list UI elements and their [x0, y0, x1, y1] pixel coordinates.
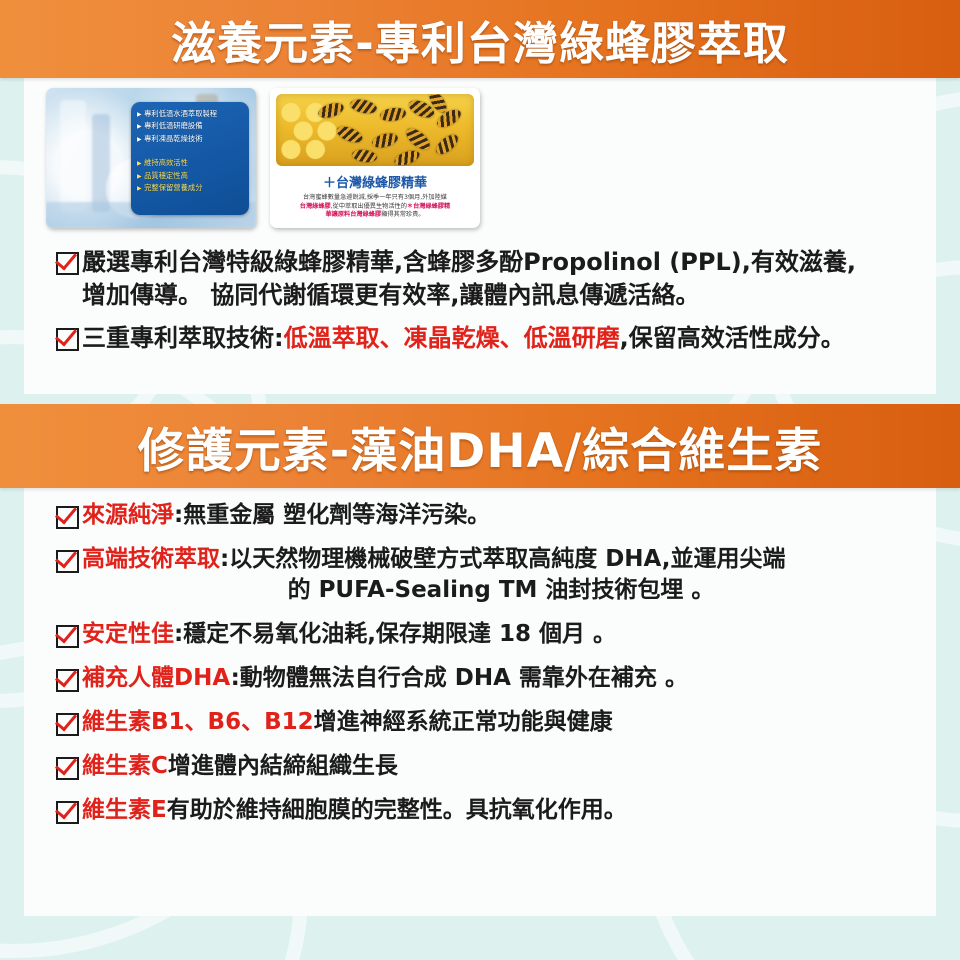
bullet-emphasis: 維生素E [82, 797, 167, 823]
bullet-line: 維生素B1、B6、B12增進神經系統正常功能與健康 [82, 709, 613, 735]
bullet-line: 來源純淨:無重金屬 塑化劑等海洋污染。 [82, 502, 490, 528]
bullet-segment: 增加傳導。 協同代謝循環更有效率,讓體內訊息傳遞活絡。 [82, 281, 699, 309]
section-one-title: 滋養元素-專利台灣綠蜂膠萃取 [171, 7, 789, 72]
bullet-line: 三重專利萃取技術:低溫萃取、凍晶乾燥、低溫研磨,保留高效活性成分。 [82, 324, 845, 352]
bullet-triple-patent: 三重專利萃取技術:低溫萃取、凍晶乾燥、低溫研磨,保留高效活性成分。 [56, 322, 920, 355]
bee-icon [403, 125, 433, 154]
bullet-line: 增加傳導。 協同代謝循環更有效率,讓體內訊息傳遞活絡。 [82, 279, 920, 312]
bullet-stability: 安定性佳:穩定不易氧化油耗,保存期限達 18 個月 。 [56, 619, 920, 650]
bullet-vitamin-b: 維生素B1、B6、B12增進神經系統正常功能與健康 [56, 707, 920, 738]
bullet-line: 補充人體DHA:動物體無法自行合成 DHA 需靠外在補充 。 [82, 665, 688, 691]
bullet-line: 嚴選專利台灣特級綠蜂膠精華,含蜂膠多酚Propolinol (PPL),有效滋養… [82, 248, 856, 276]
bullet-segment: ,保留高效活性成分。 [620, 324, 845, 352]
lab-photo-card: 專利低溫水酒萃取製程 專利低溫研磨設備 專利凍晶乾燥技術 維持高效活性 品質穩定… [46, 88, 256, 228]
patent-point: 專利低溫研磨設備 [137, 120, 244, 132]
checkmark-icon [56, 550, 79, 573]
bullet-text: 三重專利萃取技術:低溫萃取、凍晶乾燥、低溫研磨,保留高效活性成分。 [82, 322, 920, 355]
bee-icon [371, 131, 399, 150]
test-tube-icon [60, 100, 86, 212]
bullet-line: 維生素C增進體內結締組織生長 [82, 753, 398, 779]
patent-points-list: 專利低溫水酒萃取製程 專利低溫研磨設備 專利凍晶乾燥技術 [137, 108, 244, 145]
bullet-emphasis: 維生素C [82, 753, 168, 779]
bullet-pure-source: 來源純淨:無重金屬 塑化劑等海洋污染。 [56, 500, 920, 531]
benefit-point: 品質穩定性高 [137, 170, 244, 182]
section-two-banner: 修護元素-藻油DHA/綜合維生素 [0, 404, 960, 488]
checkmark-icon [56, 625, 79, 648]
bullet-emphasis: 安定性佳 [82, 621, 174, 647]
propolis-desc-line-3: 華讓原料台灣綠蜂膠顯得其常珍貴。 [280, 211, 470, 220]
bullet-segment: :無重金屬 塑化劑等海洋污染。 [174, 502, 490, 528]
bullet-segment: 增進神經系統正常功能與健康 [314, 709, 613, 735]
bullet-line: 高端技術萃取:以天然物理機械破壁方式萃取高純度 DHA,並運用尖端 [82, 546, 786, 572]
checkmark-icon [56, 713, 79, 736]
propolis-desc-text: 顯得其常珍貴。 [381, 211, 424, 218]
bullet-emphasis: 高端技術萃取 [82, 546, 220, 572]
bullet-segment: :以天然物理機械破壁方式萃取高純度 DHA,並運用尖端 [220, 546, 786, 572]
propolis-desc-line-1: 台灣蜜蜂數量急遽銳減,採季一年只有3個月,外加陸媒 [280, 194, 470, 203]
product-image-row: 專利低溫水酒萃取製程 專利低溫研磨設備 專利凍晶乾燥技術 維持高效活性 品質穩定… [46, 88, 480, 228]
bullet-line: 安定性佳:穩定不易氧化油耗,保存期限達 18 個月 。 [82, 621, 616, 647]
page-root: 滋養元素-專利台灣綠蜂膠萃取 專利低溫水酒萃取製程 專利低溫研磨設備 專利凍晶乾… [0, 0, 960, 960]
bullet-emphasis: 補充人體DHA [82, 665, 231, 691]
patent-points-box: 專利低溫水酒萃取製程 專利低溫研磨設備 專利凍晶乾燥技術 維持高效活性 品質穩定… [131, 102, 249, 215]
bee-icon [349, 97, 378, 115]
bullet-text: 嚴選專利台灣特級綠蜂膠精華,含蜂膠多酚Propolinol (PPL),有效滋養… [82, 246, 920, 312]
propolis-desc-highlight: ＊台灣綠蜂膠精 [407, 203, 450, 210]
patent-point: 專利低溫水酒萃取製程 [137, 108, 244, 120]
bullet-text: 安定性佳:穩定不易氧化油耗,保存期限達 18 個月 。 [82, 619, 920, 650]
bullet-dha-supplement: 補充人體DHA:動物體無法自行合成 DHA 需靠外在補充 。 [56, 663, 920, 694]
checkmark-icon [56, 252, 79, 275]
section-one-bullet-list: 嚴選專利台灣特級綠蜂膠精華,含蜂膠多酚Propolinol (PPL),有效滋養… [56, 246, 920, 365]
bullet-text: 維生素B1、B6、B12增進神經系統正常功能與健康 [82, 707, 920, 738]
propolis-desc-highlight: 台灣綠蜂膠 [300, 203, 331, 210]
bullet-line: 維生素E有助於維持細胞膜的完整性。具抗氧化作用。 [82, 797, 627, 823]
propolis-card: ＋台灣綠蜂膠精華 台灣蜜蜂數量急遽銳減,採季一年只有3個月,外加陸媒 台灣綠蜂膠… [270, 88, 480, 228]
patent-point: 專利凍晶乾燥技術 [137, 133, 244, 145]
bullet-text: 來源純淨:無重金屬 塑化劑等海洋污染。 [82, 500, 920, 531]
bullet-segment: 增進體內結締組織生長 [168, 753, 398, 779]
bullet-vitamin-e: 維生素E有助於維持細胞膜的完整性。具抗氧化作用。 [56, 795, 920, 826]
bee-icon [351, 148, 377, 163]
benefit-points-list: 維持高效活性 品質穩定性高 完整保留營養成分 [137, 157, 244, 194]
bullet-line: 的 PUFA-Sealing TM 油封技術包埋 。 [82, 575, 920, 606]
checkmark-icon [56, 328, 79, 351]
checkmark-icon [56, 757, 79, 780]
bullet-segment: :動物體無法自行合成 DHA 需靠外在補充 。 [231, 665, 688, 691]
bullet-vitamin-c: 維生素C增進體內結締組織生長 [56, 751, 920, 782]
bee-icon [379, 106, 407, 122]
bullet-text: 維生素E有助於維持細胞膜的完整性。具抗氧化作用。 [82, 795, 920, 826]
bullet-emphasis: 來源純淨 [82, 502, 174, 528]
bullet-segment: :穩定不易氧化油耗,保存期限達 18 個月 。 [174, 621, 616, 647]
bullet-text: 補充人體DHA:動物體無法自行合成 DHA 需靠外在補充 。 [82, 663, 920, 694]
bullet-emphasis: 維生素B1、B6、B12 [82, 709, 314, 735]
checkmark-icon [56, 506, 79, 529]
benefit-point: 完整保留營養成分 [137, 182, 244, 194]
benefit-point: 維持高效活性 [137, 157, 244, 169]
checkmark-icon [56, 801, 79, 824]
bullet-propolis: 嚴選專利台灣特級綠蜂膠精華,含蜂膠多酚Propolinol (PPL),有效滋養… [56, 246, 920, 312]
bullet-segment: 有助於維持細胞膜的完整性。具抗氧化作用。 [167, 797, 627, 823]
propolis-card-title: ＋台灣綠蜂膠精華 [276, 172, 474, 191]
bullet-text: 高端技術萃取:以天然物理機械破壁方式萃取高純度 DHA,並運用尖端的 PUFA-… [82, 544, 920, 606]
section-one-banner: 滋養元素-專利台灣綠蜂膠萃取 [0, 0, 960, 78]
checkmark-icon [56, 669, 79, 692]
propolis-card-description: 台灣蜜蜂數量急遽銳減,採季一年只有3個月,外加陸媒 台灣綠蜂膠,從中萃取出優異生… [276, 194, 474, 220]
bullet-text: 維生素C增進體內結締組織生長 [82, 751, 920, 782]
section-two-title: 修護元素-藻油DHA/綜合維生素 [138, 412, 822, 481]
bullet-segment: 的 PUFA-Sealing TM 油封技術包埋 。 [288, 577, 715, 603]
propolis-desc-highlight: 華讓原料台灣綠蜂膠 [326, 211, 382, 218]
bullet-segment: 三重專利萃取技術: [82, 324, 284, 352]
bee-honeycomb-photo [276, 94, 474, 166]
section-two-bullet-list: 來源純淨:無重金屬 塑化劑等海洋污染。高端技術萃取:以天然物理機械破壁方式萃取高… [56, 500, 920, 839]
bullet-segment: 嚴選專利台灣特級綠蜂膠精華,含蜂膠多酚Propolinol (PPL),有效滋養… [82, 248, 856, 276]
bullet-high-tech-extraction: 高端技術萃取:以天然物理機械破壁方式萃取高純度 DHA,並運用尖端的 PUFA-… [56, 544, 920, 606]
propolis-desc-line-2: 台灣綠蜂膠,從中萃取出優異生物活性的＊台灣綠蜂膠精 [280, 203, 470, 212]
propolis-desc-text: ,從中萃取出優異生物活性的 [331, 203, 407, 210]
bee-icon [393, 148, 422, 166]
bee-icon [433, 131, 461, 158]
bullet-emphasis: 低溫萃取、凍晶乾燥、低溫研磨 [284, 324, 620, 352]
